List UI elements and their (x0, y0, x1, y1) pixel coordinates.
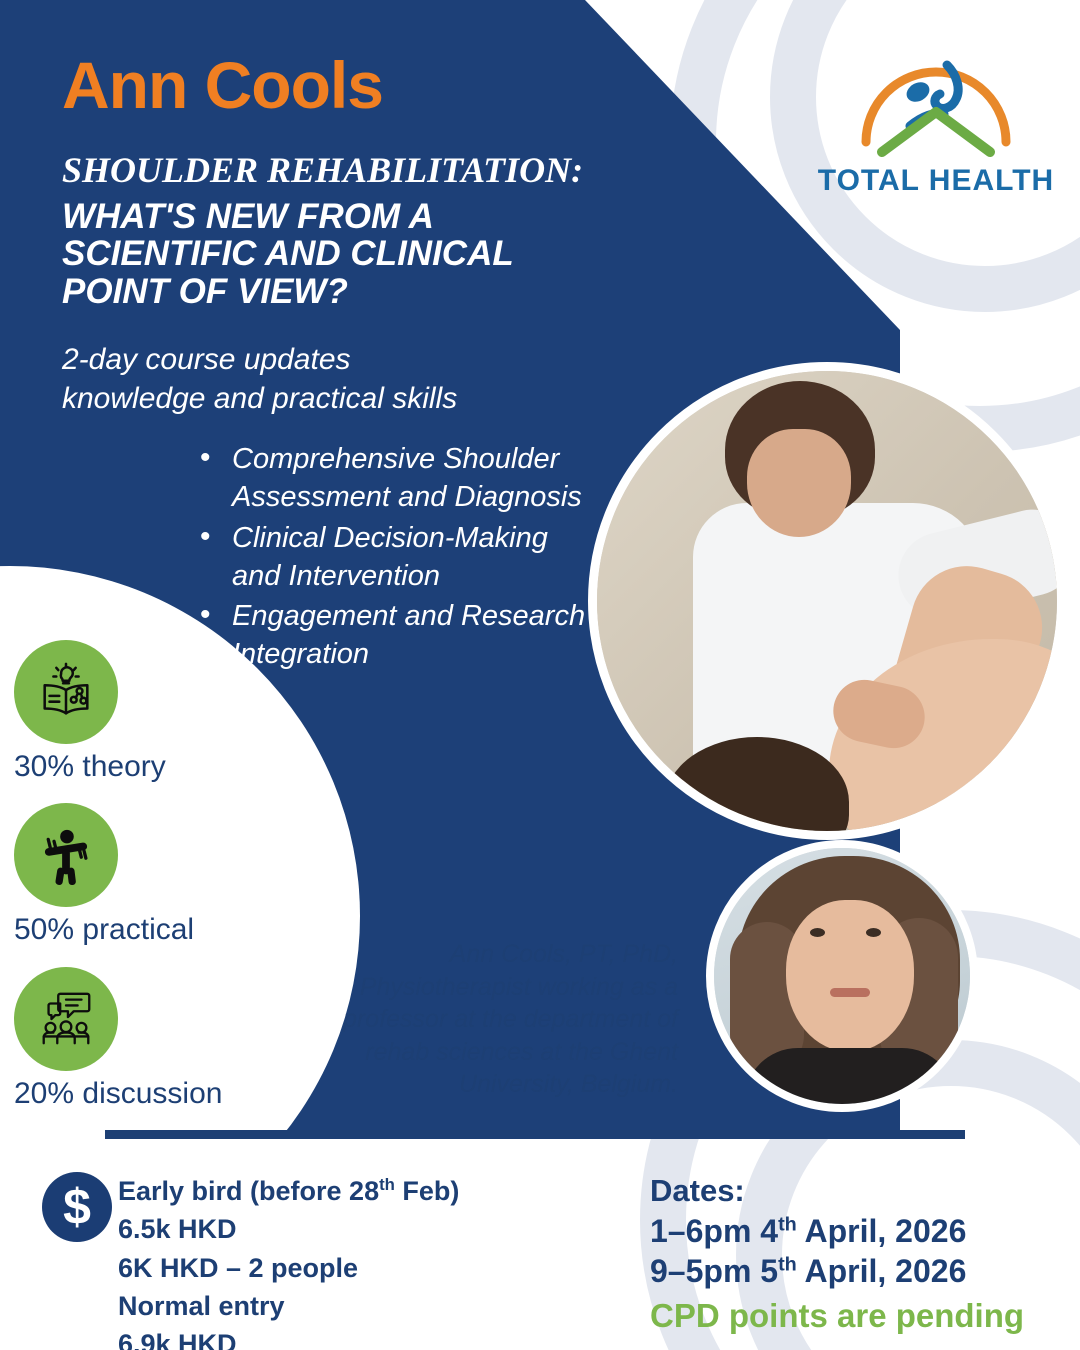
logo-text: TOTAL HEALTH (814, 164, 1058, 198)
total-health-figure-icon (814, 30, 1058, 172)
course-title-serif: SHOULDER REHABILITATION: (62, 152, 583, 188)
speaker-name: Ann Cools (62, 52, 383, 118)
dates-heading: Dates: (650, 1172, 1050, 1211)
ann-cools-portrait-photo (706, 840, 978, 1112)
book-lightbulb-icon (14, 640, 118, 744)
pricing-normal-price: 6.9k HKD (118, 1325, 548, 1350)
stat-label: 50% practical (14, 913, 194, 947)
stat-practical: 50% practical (14, 803, 194, 947)
topics-list: Comprehensive Shoulder Assessment and Di… (200, 440, 590, 676)
speaker-bio: Ann Cools, PT, PhD, Physiotherapist work… (318, 938, 678, 1101)
stat-label: 30% theory (14, 750, 166, 784)
discussion-group-icon (14, 967, 118, 1071)
course-tagline: 2-day course updatesknowledge and practi… (62, 340, 582, 418)
dates-day-2: 9–5pm 5th April, 2026 (650, 1251, 1050, 1291)
list-item: Engagement and Research Integration (200, 597, 590, 674)
pricing-pair-price: 6K HKD – 2 people (118, 1249, 548, 1287)
physiotherapist-treating-shoulder-photo (588, 362, 1066, 840)
pricing-normal-label: Normal entry (118, 1287, 548, 1325)
pricing-early-bird-label: Early bird (before 28th Feb) (118, 1172, 548, 1210)
section-divider (105, 1130, 965, 1139)
dates-block: Dates: 1–6pm 4th April, 2026 9–5pm 5th A… (650, 1172, 1050, 1291)
pricing-early-bird-price: 6.5k HKD (118, 1210, 548, 1248)
flyer-canvas: Ann Cools SHOULDER REHABILITATION: WHAT'… (0, 0, 1080, 1350)
total-health-logo: TOTAL HEALTH (814, 30, 1058, 200)
stat-discussion: 20% discussion (14, 967, 222, 1111)
list-item: Comprehensive Shoulder Assessment and Di… (200, 440, 590, 517)
person-stretching-icon (14, 803, 118, 907)
dollar-badge-icon: $ (42, 1172, 112, 1242)
pricing-block: Early bird (before 28th Feb) 6.5k HKD 6K… (118, 1172, 548, 1350)
course-title-sans: WHAT'S NEW FROM ASCIENTIFIC AND CLINICAL… (62, 198, 622, 310)
dates-day-1: 1–6pm 4th April, 2026 (650, 1211, 1050, 1251)
stat-label: 20% discussion (14, 1077, 222, 1111)
cpd-note: CPD points are pending (650, 1297, 1024, 1335)
stat-theory: 30% theory (14, 640, 166, 784)
list-item: Clinical Decision-Making and Interventio… (200, 519, 590, 596)
